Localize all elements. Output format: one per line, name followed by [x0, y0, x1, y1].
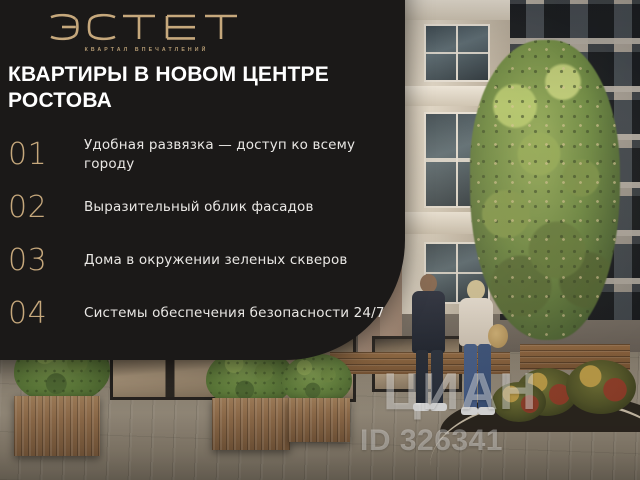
man-leg-left [416, 350, 428, 406]
feature-item: 03 Дома в окружении зеленых скверов [8, 234, 403, 287]
man-shoe-right [430, 403, 447, 411]
brand-logo: КВАРТАЛ ВПЕЧАТЛЕНИЙ [30, 12, 260, 53]
feature-item: 02 Выразительный облик фасадов [8, 181, 403, 234]
man-shoe-left [413, 403, 430, 411]
feature-label: Удобная развязка — доступ ко всему город… [84, 136, 403, 172]
wooden-planter-left [14, 396, 100, 456]
woman-leg-left [464, 344, 477, 410]
woman-straw-hat [488, 324, 508, 348]
woman-shoe-right [478, 407, 495, 415]
woman-leg-right [478, 344, 491, 410]
woman-head-hair [467, 280, 485, 300]
pedestrian-woman [456, 280, 504, 416]
feature-list: 01 Удобная развязка — доступ ко всему го… [8, 128, 403, 340]
man-blazer [412, 291, 445, 353]
feature-number: 04 [8, 299, 84, 329]
page-title: КВАРТИРЫ В НОВОМ ЦЕНТРЕ РОСТОВА [8, 62, 338, 114]
woman-shoe-left [461, 407, 478, 415]
pedestrian-man [408, 274, 454, 414]
feature-label: Дома в окружении зеленых скверов [84, 251, 348, 269]
advertisement-image: КВАРТАЛ ВПЕЧАТЛЕНИЙ КВАРТИРЫ В НОВОМ ЦЕН… [0, 0, 640, 480]
feature-number: 01 [8, 140, 84, 170]
feature-number: 02 [8, 193, 84, 223]
brand-tagline: КВАРТАЛ ВПЕЧАТЛЕНИЙ [30, 47, 260, 53]
dark-content-panel: КВАРТАЛ ВПЕЧАТЛЕНИЙ КВАРТИРЫ В НОВОМ ЦЕН… [0, 0, 405, 360]
facade-slab-top [398, 0, 510, 20]
feature-label: Выразительный облик фасадов [84, 198, 314, 216]
feature-number: 03 [8, 246, 84, 276]
feature-item: 01 Удобная развязка — доступ ко всему го… [8, 128, 403, 181]
facade-window-upper [424, 24, 490, 82]
estet-logotype-icon [49, 12, 241, 42]
feature-item: 04 Системы обеспечения безопасности 24/7 [8, 287, 403, 340]
ornamental-shrub-b [566, 360, 636, 414]
feature-label: Системы обеспечения безопасности 24/7 [84, 304, 385, 322]
wooden-planter-center [212, 398, 290, 450]
wooden-planter-right [288, 398, 350, 442]
man-leg-right [431, 350, 443, 406]
